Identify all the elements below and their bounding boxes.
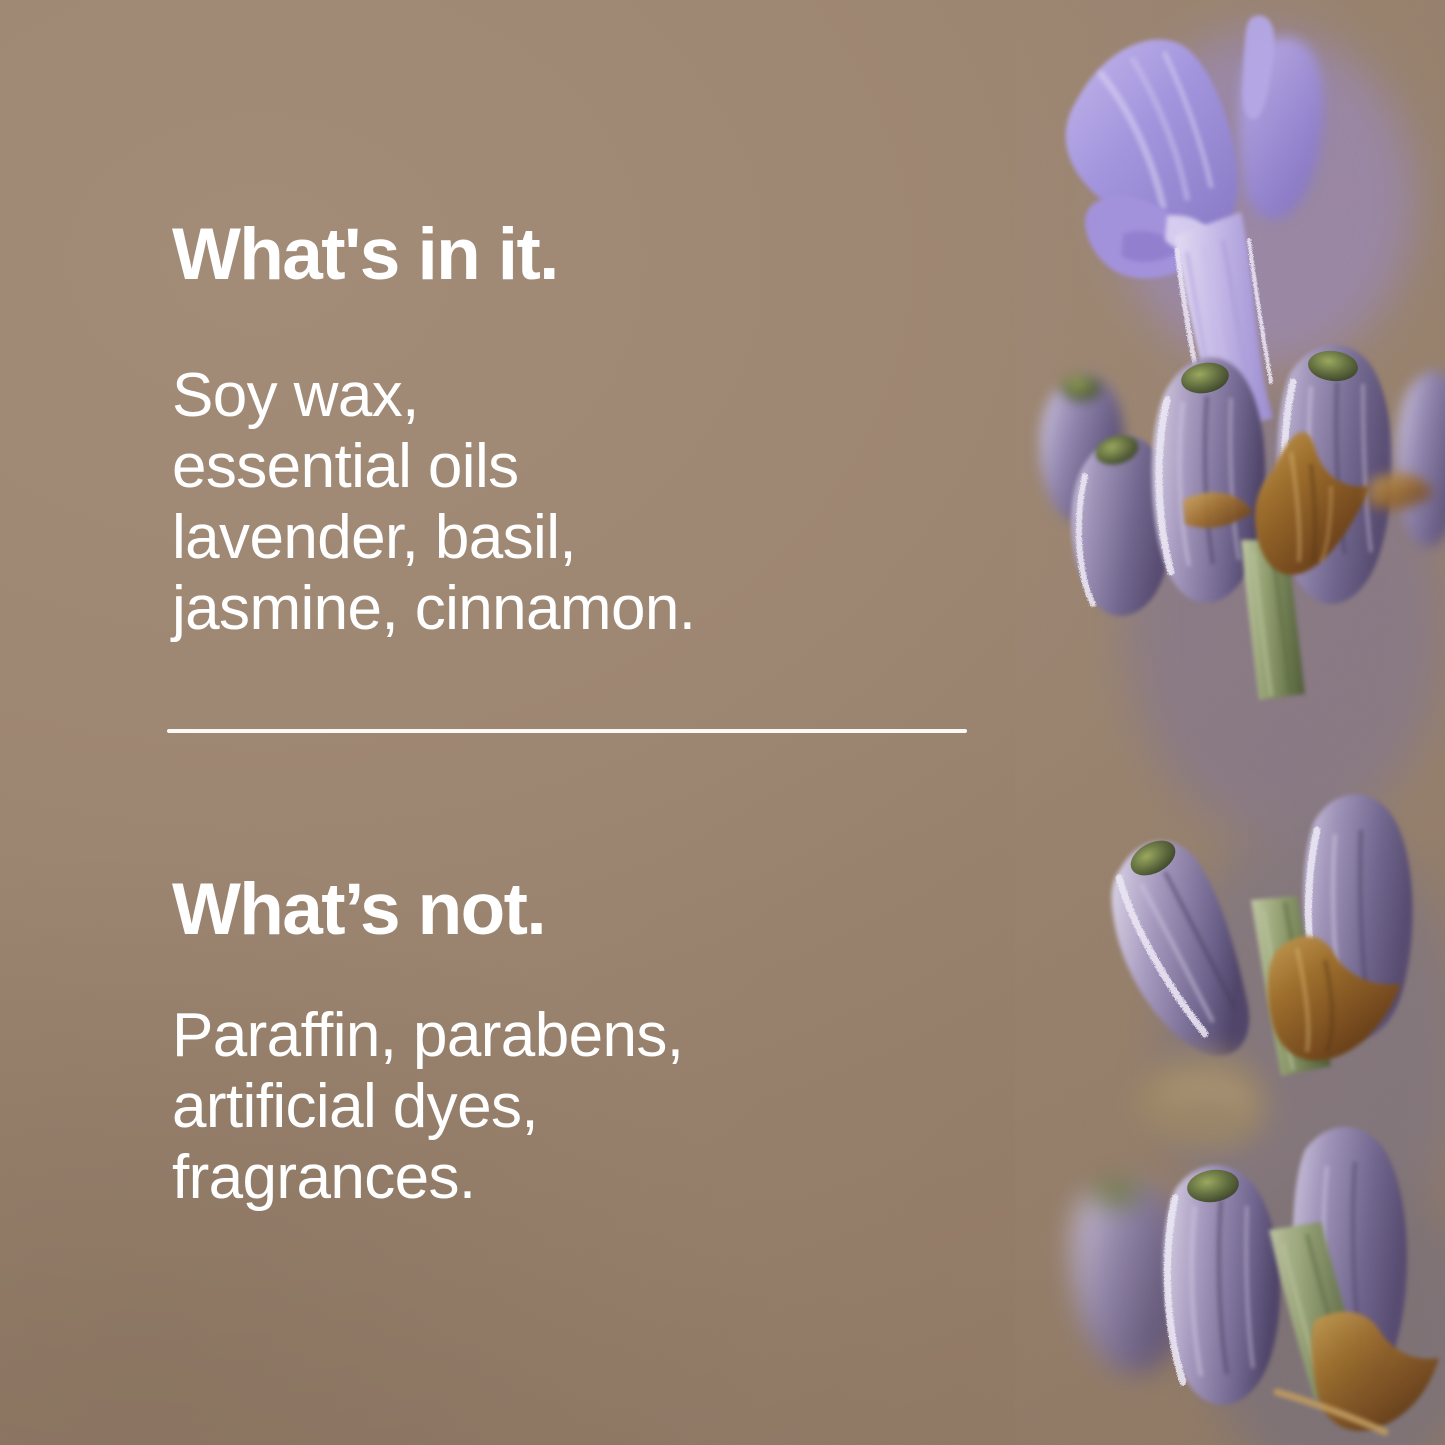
heading-whats-in-it: What's in it. [172, 218, 558, 291]
promo-card: What's in it. Soy wax, essential oils la… [0, 0, 1445, 1445]
text-column: What's in it. Soy wax, essential oils la… [167, 0, 987, 1445]
ingredients-included-list: Soy wax, essential oils lavender, basil,… [172, 360, 695, 644]
ingredients-excluded-list: Paraffin, parabens, artificial dyes, fra… [172, 1000, 683, 1213]
heading-whats-not: What’s not. [172, 873, 545, 946]
lavender-sprig-image [1015, 0, 1445, 1445]
section-divider [167, 729, 967, 733]
